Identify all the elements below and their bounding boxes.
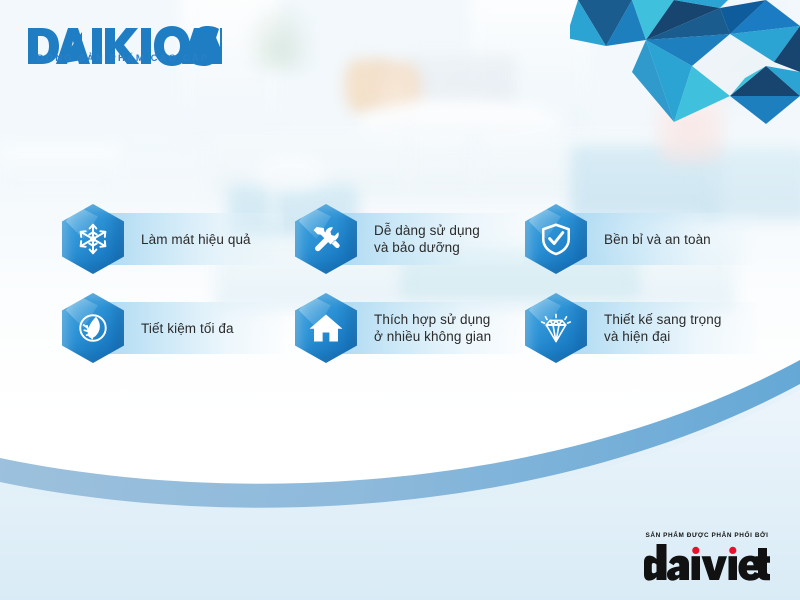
feature-item-energy-saving[interactable]: Tiết kiệm tối đa: [62, 292, 295, 364]
feature-label: Bền bỉ và an toàn: [604, 231, 711, 248]
daiviet-dot-i1: [692, 547, 699, 554]
daiviet-logo: [644, 542, 770, 582]
feature-item-luxury-design[interactable]: Thiết kế sang trọng và hiện đại: [525, 292, 762, 364]
distributor-caption: SẢN PHẨM ĐƯỢC PHÂN PHỐI BỞI: [632, 532, 782, 539]
feature-label: Tiết kiệm tối đa: [141, 320, 234, 337]
feature-row-1: Làm mát hiệu quả: [62, 203, 762, 275]
daiviet-dot-i2: [729, 547, 736, 554]
feature-label: Thích hợp sử dụng ở nhiều không gian: [374, 311, 491, 345]
feature-label: Thiết kế sang trọng và hiện đại: [604, 311, 721, 345]
feature-label: Dễ dàng sử dụng và bảo dưỡng: [374, 222, 480, 256]
banner-canvas: DÒNG SẢN PHẨM CAO CẤP: [0, 0, 800, 600]
daikiosan-logo: [26, 20, 222, 72]
feature-label: Làm mát hiệu quả: [141, 231, 251, 248]
feature-item-cooling[interactable]: Làm mát hiệu quả: [62, 203, 295, 275]
room-table-leg-right: [470, 130, 479, 192]
room-side-table: [0, 145, 120, 185]
room-plant: [245, 0, 315, 70]
feature-list: Làm mát hiệu quả: [62, 203, 762, 364]
room-stool: [255, 155, 327, 191]
feature-item-durable-safe[interactable]: Bền bỉ và an toàn: [525, 203, 762, 275]
feature-item-easy-use[interactable]: Dễ dàng sử dụng và bảo dưỡng: [295, 203, 525, 275]
feature-row-2: Tiết kiệm tối đa Thích hợp sử dụng ở nhi…: [62, 292, 762, 364]
room-table: [355, 100, 565, 148]
logo-tagline: DÒNG SẢN PHẨM CAO CẤP: [30, 53, 216, 64]
feature-item-versatile-space[interactable]: Thích hợp sử dụng ở nhiều không gian: [295, 292, 525, 364]
room-table-leg-left: [405, 128, 413, 188]
distributor-block: SẢN PHẨM ĐƯỢC PHÂN PHỐI BỞI: [632, 532, 782, 582]
room-vase: [660, 85, 722, 163]
